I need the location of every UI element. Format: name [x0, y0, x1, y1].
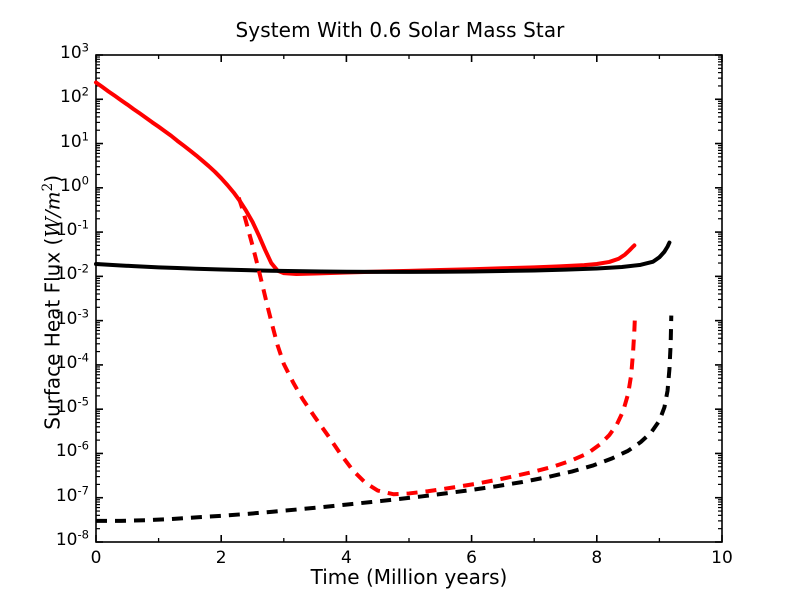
data-series-group: [96, 82, 671, 520]
x-tick-label: 8: [567, 548, 627, 568]
y-tick-exponent: -3: [77, 306, 89, 320]
y-tick-mantissa: 10: [60, 132, 82, 152]
y-tick-exponent: 1: [82, 129, 89, 143]
figure-canvas: System With 0.6 Solar Mass Star Surface …: [0, 0, 800, 600]
y-tick-label: 103: [60, 43, 89, 63]
y-tick-label: 10-3: [56, 309, 89, 329]
y-tick-label: 10-2: [56, 264, 89, 284]
y-tick-mantissa: 10: [56, 264, 78, 284]
y-tick-mantissa: 10: [56, 441, 78, 461]
y-tick-label: 10-5: [56, 397, 89, 417]
y-tick-mantissa: 10: [56, 397, 78, 417]
y-tick-mantissa: 10: [60, 87, 82, 107]
y-tick-mantissa: 10: [60, 43, 82, 63]
y-tick-mantissa: 10: [56, 309, 78, 329]
x-tick-label: 10: [692, 548, 752, 568]
x-tick-label: 0: [66, 548, 126, 568]
y-tick-exponent: 3: [82, 40, 89, 54]
axis-ticks: [96, 55, 722, 542]
y-tick-exponent: -6: [77, 439, 89, 453]
y-tick-exponent: -8: [77, 527, 89, 541]
y-tick-mantissa: 10: [56, 530, 78, 550]
series-line-red-solid: [96, 82, 634, 274]
x-tick-label: 6: [442, 548, 502, 568]
y-tick-label: 100: [60, 176, 89, 196]
x-tick-label: 4: [316, 548, 376, 568]
y-tick-exponent: 2: [82, 85, 89, 99]
series-line-black-dashed: [96, 316, 671, 521]
series-line-black-solid: [96, 243, 669, 272]
y-tick-exponent: -1: [77, 217, 89, 231]
plot-area: [0, 0, 800, 600]
x-tick-label: 2: [191, 548, 251, 568]
y-tick-exponent: -5: [77, 395, 89, 409]
y-tick-exponent: -2: [77, 262, 89, 276]
y-tick-exponent: -4: [77, 350, 89, 364]
series-line-red-dashed: [239, 198, 635, 495]
y-tick-label: 10-4: [56, 353, 89, 373]
axes-frame: [96, 55, 722, 542]
y-tick-exponent: 0: [82, 173, 89, 187]
y-tick-mantissa: 10: [56, 353, 78, 373]
y-tick-label: 10-1: [56, 220, 89, 240]
y-tick-label: 102: [60, 87, 89, 107]
y-tick-exponent: -7: [77, 483, 89, 497]
y-tick-label: 10-7: [56, 486, 89, 506]
y-tick-mantissa: 10: [60, 176, 82, 196]
y-tick-label: 101: [60, 132, 89, 152]
y-tick-mantissa: 10: [56, 486, 78, 506]
y-tick-label: 10-8: [56, 530, 89, 550]
y-tick-label: 10-6: [56, 441, 89, 461]
y-tick-mantissa: 10: [56, 220, 78, 240]
